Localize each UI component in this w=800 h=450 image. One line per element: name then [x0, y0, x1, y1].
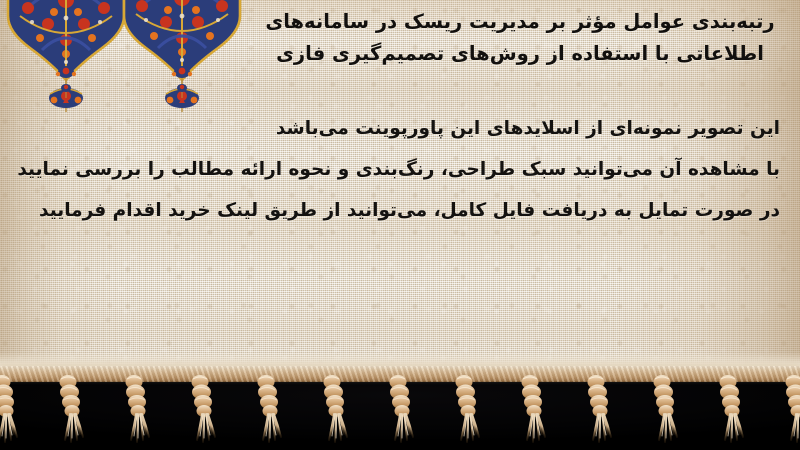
slide-title-line-1: رتبه‌بندی عوامل مؤثر بر مدیریت ریسک در س…	[250, 6, 790, 38]
fringe-tassel	[60, 375, 84, 442]
slide-body-line-1: این تصویر نمونه‌ای از اسلایدهای این پاور…	[18, 108, 780, 149]
carpet-fringe-zone	[0, 352, 800, 450]
slide-title-line-2: اطلاعاتی با استفاده از روش‌های تصمیم‌گیر…	[250, 38, 790, 70]
fringe-tassel	[390, 375, 414, 442]
fringe-tassel-group	[0, 352, 800, 450]
fringe-tassel	[192, 375, 216, 442]
slide-body-line-2: با مشاهده آن می‌توانید سبک طراحی، رنگ‌بن…	[18, 149, 780, 190]
slide-canvas: رتبه‌بندی عوامل مؤثر بر مدیریت ریسک در س…	[0, 0, 800, 450]
fringe-tassel	[258, 375, 282, 442]
fringe-tassel	[0, 375, 17, 442]
carpet-pendant-lower-1	[56, 66, 76, 103]
fringe-tassel	[720, 375, 744, 442]
fringe-tassel	[654, 375, 678, 442]
fringe-tassel	[126, 375, 150, 442]
slide-title: رتبه‌بندی عوامل مؤثر بر مدیریت ریسک در س…	[250, 6, 790, 70]
slide-body: این تصویر نمونه‌ای از اسلایدهای این پاور…	[18, 108, 780, 231]
fringe-tassel	[522, 375, 546, 442]
fringe-tassel	[456, 375, 480, 442]
carpet-pendant-lower-2	[172, 66, 192, 103]
slide-body-line-3: در صورت تمایل به دریافت فایل کامل، می‌تو…	[18, 190, 780, 231]
fringe-tassel	[588, 375, 612, 442]
fringe-tassel	[324, 375, 348, 442]
fringe-tassel	[786, 375, 800, 442]
